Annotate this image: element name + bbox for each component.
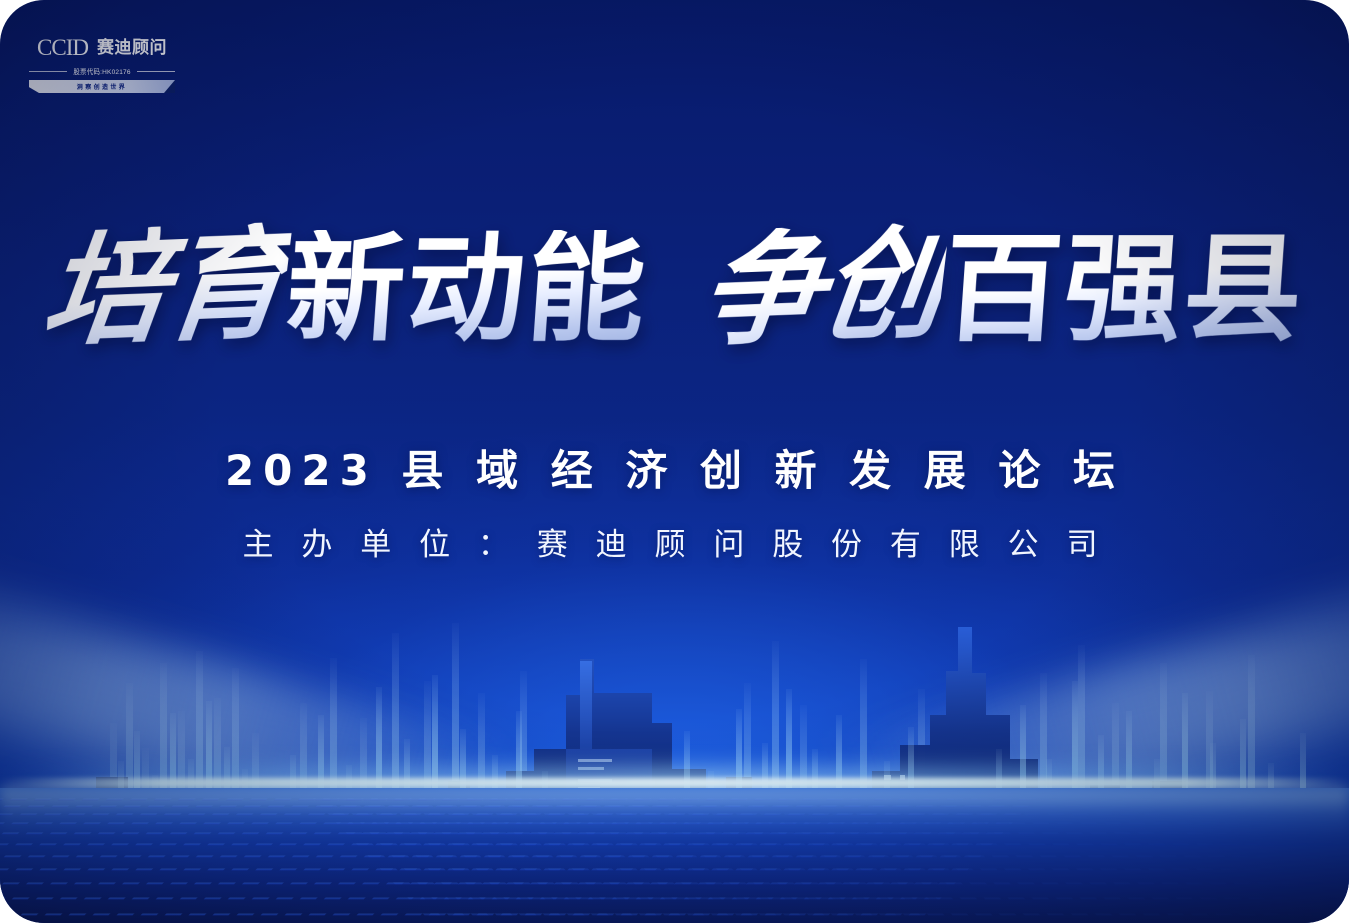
rule-right (137, 71, 175, 72)
logo-slogan-text: 洞察创造世界 (77, 82, 127, 91)
horizon-glow-line (0, 778, 1349, 788)
poster-canvas: CCID 赛迪顾问 股票代码:HK02176 洞察创造世界 培育新动能争创百强县… (0, 0, 1349, 923)
rule-left (29, 71, 67, 72)
headline: 培育新动能争创百强县 (0, 226, 1349, 348)
organizer-line: 主 办 单 位 ： 赛 迪 顾 问 股 份 有 限 公 司 (0, 519, 1349, 564)
ccid-company-name: 赛迪顾问 (97, 39, 167, 56)
headline-part1-block: 新动能 (283, 230, 651, 348)
logo-wordmark-row: CCID 赛迪顾问 (29, 36, 175, 61)
ccid-logo: CCID 赛迪顾问 股票代码:HK02176 洞察创造世界 (29, 36, 175, 93)
headline-part2-brush: 争创 (694, 221, 950, 352)
forum-subtitle: 2023 县 域 经 济 创 新 发 展 论 坛 (0, 437, 1349, 498)
ccid-mark: CCID (37, 36, 88, 59)
stock-code-text: 股票代码:HK02176 (73, 66, 130, 77)
ground-sheen (0, 788, 1349, 838)
stock-code-row: 股票代码:HK02176 (29, 66, 175, 76)
headline-part2-block: 百强县 (939, 230, 1307, 348)
logo-slogan-ribbon: 洞察创造世界 (29, 80, 175, 93)
headline-part1-brush: 培育 (38, 221, 294, 352)
